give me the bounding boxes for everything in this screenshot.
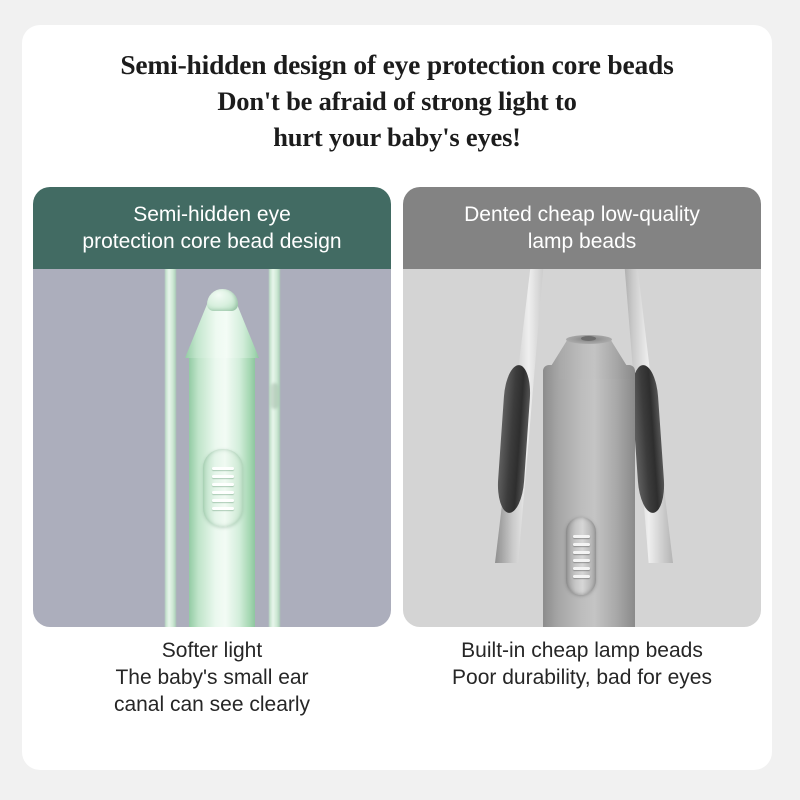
gray-device-slider-switch [566,517,596,595]
slider-ridge [212,483,234,486]
slider-ridge [573,575,590,578]
dented-lamp-bead-slot-left [496,364,532,513]
slider-ridge [573,567,590,570]
headline-line-2: Don't be afraid of strong light to [22,83,772,119]
caption-row: Softer light The baby's small ear canal … [33,637,761,718]
caption-bad: Built-in cheap lamp beads Poor durabilit… [403,637,761,718]
caption-bad-line-1: Built-in cheap lamp beads [403,637,761,664]
page-title: Semi-hidden design of eye protection cor… [22,47,772,155]
slider-ridge [573,559,590,562]
caption-good-line-2: The baby's small ear [33,664,391,691]
caption-good-line-3: canal can see clearly [33,691,391,718]
headline-line-1: Semi-hidden design of eye protection cor… [22,47,772,83]
green-device-left-wing [165,269,176,627]
panel-good-header: Semi-hidden eye protection core bead des… [33,187,391,269]
caption-good: Softer light The baby's small ear canal … [33,637,391,718]
slider-ridge [212,499,234,502]
panel-bad-header-line-2: lamp beads [464,228,700,255]
dented-lamp-bead-slot-right [630,364,666,513]
slider-ridge [573,551,590,554]
comparison-row: Semi-hidden eye protection core bead des… [33,187,761,627]
comparison-panel-good: Semi-hidden eye protection core bead des… [33,187,391,627]
panel-bad-image [403,269,761,627]
product-comparison-card: Semi-hidden design of eye protection cor… [22,25,772,770]
slider-ridge [212,467,234,470]
panel-good-header-line-2: protection core bead design [82,228,341,255]
slider-ridge [573,535,590,538]
slider-ridge [212,507,234,510]
gray-device-cone [543,339,635,379]
green-device-right-wing [269,269,280,627]
slider-ridge [212,475,234,478]
panel-bad-header: Dented cheap low-quality lamp beads [403,187,761,269]
gray-device-tip-hole [581,336,596,341]
headline-line-3: hurt your baby's eyes! [22,119,772,155]
slider-ridge [573,543,590,546]
slider-ridge [212,491,234,494]
panel-good-image [33,269,391,627]
comparison-panel-bad: Dented cheap low-quality lamp beads [403,187,761,627]
caption-bad-line-2: Poor durability, bad for eyes [403,664,761,691]
panel-good-header-line-1: Semi-hidden eye [82,201,341,228]
green-device-slider-switch [203,449,243,527]
panel-bad-header-line-1: Dented cheap low-quality [464,201,700,228]
semi-hidden-core-bead-tip [207,289,238,311]
caption-good-line-1: Softer light [33,637,391,664]
